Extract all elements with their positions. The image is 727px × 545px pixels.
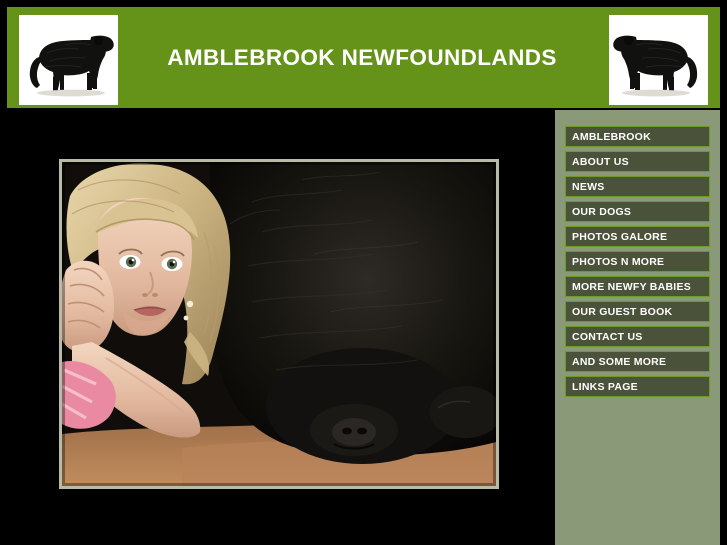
- page-root: AMBLEBROOK NEWFOUNDLANDS: [0, 0, 727, 545]
- sidebar-item-photos-galore[interactable]: PHOTOS GALORE: [565, 226, 710, 247]
- sidebar-item-news[interactable]: NEWS: [565, 176, 710, 197]
- dog-illustration-icon: [19, 15, 118, 105]
- sidebar-item-about-us[interactable]: ABOUT US: [565, 151, 710, 172]
- sidebar-item-more-newfy-babies[interactable]: MORE NEWFY BABIES: [565, 276, 710, 297]
- sidebar-item-our-guest-book[interactable]: OUR GUEST BOOK: [565, 301, 710, 322]
- main-photo: [59, 159, 499, 489]
- dog-illustration-icon: [609, 15, 708, 105]
- sidebar-navigation: AMBLEBROOK ABOUT US NEWS OUR DOGS PHOTOS…: [555, 110, 720, 545]
- sidebar-item-links-page[interactable]: LINKS PAGE: [565, 376, 710, 397]
- sidebar-item-our-dogs[interactable]: OUR DOGS: [565, 201, 710, 222]
- sidebar-item-and-some-more[interactable]: AND SOME MORE: [565, 351, 710, 372]
- sidebar-item-amblebrook[interactable]: AMBLEBROOK: [565, 126, 710, 147]
- page-title: AMBLEBROOK NEWFOUNDLANDS: [127, 7, 597, 108]
- site-header: AMBLEBROOK NEWFOUNDLANDS: [7, 7, 720, 108]
- newfoundland-dog-image-left: [19, 15, 118, 105]
- sidebar-item-photos-n-more[interactable]: PHOTOS N MORE: [565, 251, 710, 272]
- girl-with-newfoundland-photograph: [62, 162, 496, 486]
- newfoundland-dog-image-right: [609, 15, 708, 105]
- sidebar-item-contact-us[interactable]: CONTACT US: [565, 326, 710, 347]
